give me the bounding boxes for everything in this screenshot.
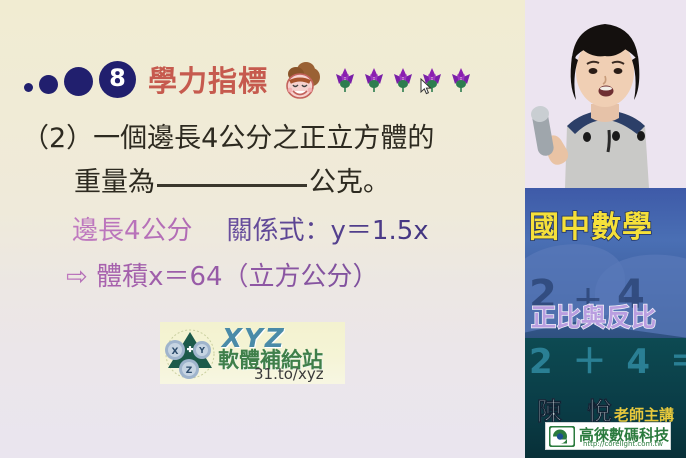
slide-header-title: 學力指標: [148, 58, 268, 100]
mouse-cursor-icon: [420, 78, 432, 95]
question-line-1: （2）一個邊長4公分之正立方體的: [22, 116, 434, 155]
credits-band: 2 ＋ 4 ＝ 6 陳 悅老師主講 高徠數碼科技 http://coreligh…: [525, 338, 686, 458]
watermark-logo: X Y Z XYZ 軟體補給站 31.to/xyz: [160, 322, 345, 384]
background-equation: 2 ＋ 4 ＝ 6: [529, 338, 686, 383]
flower-icon: [448, 65, 474, 93]
flower-icon: [390, 65, 416, 93]
question-line-2: 重量為公克。: [74, 160, 390, 199]
question-line-2-suffix: 公克。: [309, 167, 390, 198]
svg-text:Y: Y: [198, 346, 205, 355]
course-title: 國中數學: [529, 202, 653, 246]
slide-header: 8 學力指標: [24, 52, 524, 106]
work-line-2: ⇨ 體積x＝64（立方公分）: [66, 256, 379, 293]
presenter-image: [525, 0, 686, 188]
question-line-2-prefix: 重量為: [74, 167, 155, 198]
video-lesson-screenshot: 8 學力指標: [0, 0, 686, 458]
course-title-band: 2 ＋ 4 國中數學 正比與反比: [525, 188, 686, 338]
svg-text:X: X: [172, 347, 179, 357]
work-volume-result: 體積x＝64（立方公分）: [96, 262, 378, 292]
flower-icon: [332, 65, 358, 93]
company-logo-mark-icon: [549, 426, 575, 447]
work-relation-formula: 關係式：y＝1.5x: [227, 216, 429, 246]
smiling-face-emoji: [280, 57, 324, 101]
watermark-url: 31.to/xyz: [254, 365, 324, 383]
course-subtitle: 正比與反比: [531, 298, 656, 334]
bullet-dot-large: [64, 67, 93, 96]
work-given-side-length: 邊長4公分: [72, 216, 193, 246]
flower-icon: [361, 65, 387, 93]
video-panel: 2 ＋ 4 國中數學 正比與反比 2 ＋ 4 ＝ 6 陳 悅老師主講 高徠數: [525, 0, 686, 458]
company-url: http://corelight.com.tw: [583, 440, 663, 448]
flower-emoji-row: [332, 65, 477, 93]
work-arrow-icon: ⇨: [66, 262, 88, 292]
section-number-badge: 8: [99, 61, 136, 98]
xyz-globe-icon: X Y Z: [164, 326, 216, 380]
presenter-video[interactable]: [525, 0, 686, 188]
svg-text:Z: Z: [186, 366, 193, 376]
bullet-dot-small: [24, 83, 33, 92]
company-logo: 高徠數碼科技 http://corelight.com.tw: [545, 422, 671, 450]
work-line-1: 邊長4公分關係式：y＝1.5x: [72, 210, 429, 247]
answer-blank[interactable]: [157, 184, 307, 187]
bullet-dot-medium: [39, 75, 58, 94]
